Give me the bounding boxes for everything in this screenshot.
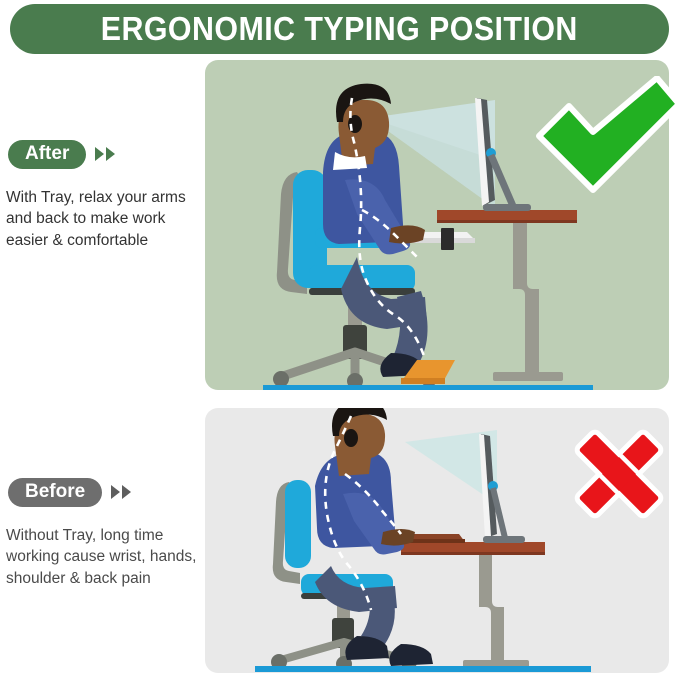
- page-title-banner: ERGONOMIC TYPING POSITION: [10, 4, 669, 54]
- after-description: With Tray, relax your arms and back to m…: [6, 187, 201, 251]
- after-scene: [205, 60, 669, 390]
- desk-foot: [493, 372, 563, 381]
- before-illustration-panel: [205, 408, 669, 673]
- desk-leg: [479, 555, 504, 663]
- floor-stripe: [263, 385, 593, 390]
- before-tag-row: Before: [8, 478, 200, 507]
- before-label-pill: Before: [8, 478, 102, 507]
- desk-top: [401, 542, 545, 552]
- after-tag-row: After: [8, 140, 200, 169]
- after-text-column: After With Tray, relax your arms and bac…: [0, 140, 200, 251]
- person-shoe: [389, 644, 433, 666]
- monitor-base: [483, 204, 531, 211]
- after-description-line: and back to make work: [6, 208, 201, 229]
- caster: [273, 371, 289, 387]
- after-description-line: easier & comfortable: [6, 230, 201, 251]
- double-triangle-right-icon: [95, 147, 115, 161]
- desk-top: [437, 210, 577, 220]
- person-ear: [344, 429, 358, 447]
- after-illustration: [205, 60, 669, 390]
- tray-bracket: [441, 228, 454, 250]
- after-description-line: With Tray, relax your arms: [6, 187, 201, 208]
- after-illustration-panel: [205, 60, 669, 390]
- before-description-line: working cause wrist, hands,: [6, 546, 201, 567]
- chair-backrest: [285, 480, 311, 568]
- before-description: Without Tray, long time working cause wr…: [6, 525, 201, 589]
- before-description-line: Without Tray, long time: [6, 525, 201, 546]
- before-scene: [205, 408, 669, 673]
- desk-leg: [513, 223, 539, 373]
- before-description-line: shoulder & back pain: [6, 568, 201, 589]
- after-label-pill: After: [8, 140, 86, 169]
- page-title: ERGONOMIC TYPING POSITION: [101, 10, 578, 48]
- before-text-column: Before Without Tray, long time working c…: [0, 478, 200, 589]
- floor-stripe: [255, 666, 591, 672]
- monitor-base: [483, 536, 525, 543]
- before-illustration: [205, 408, 669, 673]
- double-triangle-right-icon: [111, 485, 131, 499]
